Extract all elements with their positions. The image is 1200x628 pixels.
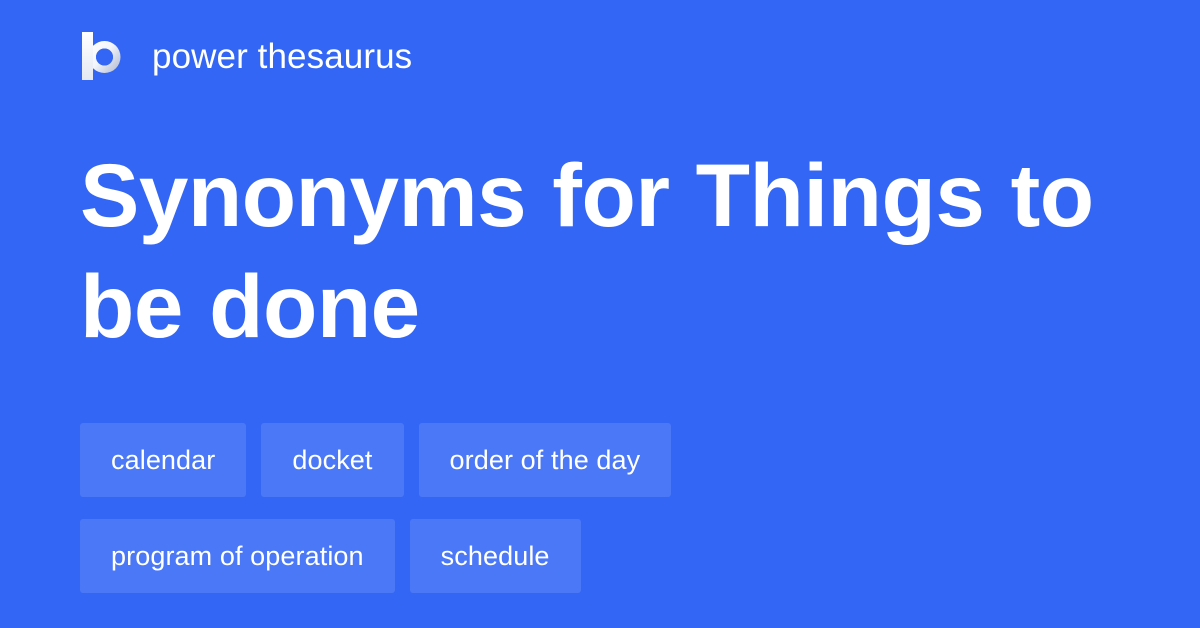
brand-name: power thesaurus <box>152 39 412 74</box>
synonym-chip[interactable]: calendar <box>80 423 246 497</box>
brand-logo[interactable]: power thesaurus <box>80 28 412 84</box>
share-card: power thesaurus Synonyms for Things to b… <box>0 0 1200 628</box>
synonym-chip[interactable]: schedule <box>410 519 581 593</box>
synonym-chip-row: program of operation schedule <box>80 519 1120 593</box>
page-title: Synonyms for Things to be done <box>80 140 1140 362</box>
synonym-chip[interactable]: program of operation <box>80 519 395 593</box>
synonym-chip[interactable]: docket <box>261 423 403 497</box>
power-thesaurus-b-logo-icon <box>80 31 130 81</box>
synonym-chip[interactable]: order of the day <box>419 423 672 497</box>
synonym-chip-list: calendar docket order of the day program… <box>80 423 1120 593</box>
synonym-chip-row: calendar docket order of the day <box>80 423 1120 497</box>
